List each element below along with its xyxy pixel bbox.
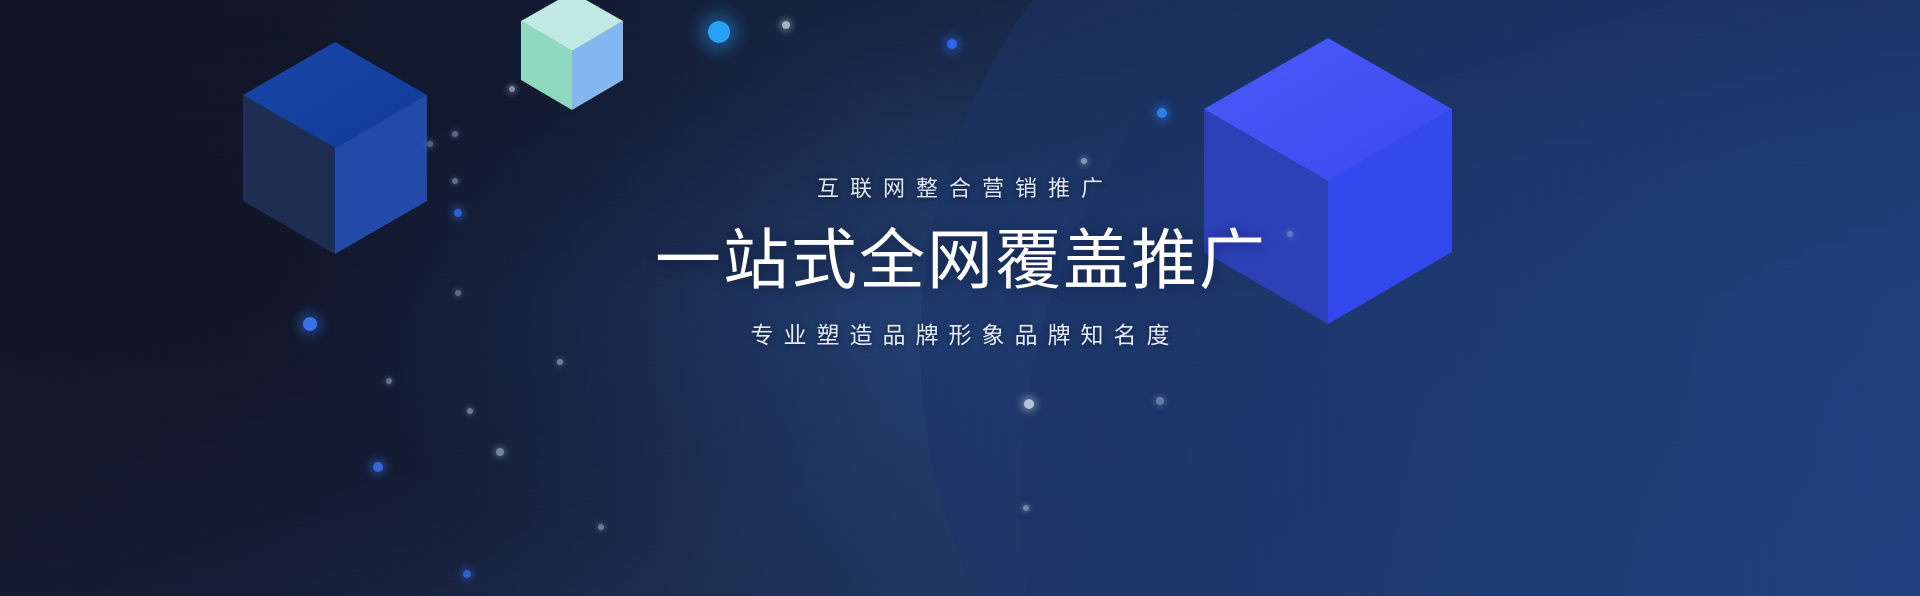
- particle-dot: [598, 524, 604, 530]
- particle-dot: [1024, 399, 1034, 409]
- particle-dot: [557, 359, 563, 365]
- hero-headline: 一站式全网覆盖推广: [0, 224, 1920, 298]
- hero-banner: 互联网整合营销推广 一站式全网覆盖推广 专业塑造品牌形象品牌知名度: [0, 0, 1920, 596]
- hero-eyebrow: 互联网整合营销推广: [0, 176, 1920, 202]
- particle-dot: [708, 21, 730, 43]
- particle-dot: [509, 86, 515, 92]
- particle-dot: [427, 141, 433, 147]
- particle-dot: [496, 448, 504, 456]
- particle-dot: [452, 131, 458, 137]
- particle-dot: [467, 408, 473, 414]
- particle-dot: [373, 462, 383, 472]
- particle-dot: [386, 378, 392, 384]
- particle-dot: [463, 570, 471, 578]
- hero-copy: 互联网整合营销推广 一站式全网覆盖推广 专业塑造品牌形象品牌知名度: [0, 176, 1920, 350]
- particle-dot: [1156, 397, 1164, 405]
- particle-dot: [1081, 158, 1087, 164]
- particle-dot: [947, 39, 957, 49]
- particle-dot: [1157, 108, 1167, 118]
- mint-cube: [521, 0, 623, 110]
- hero-subline: 专业塑造品牌形象品牌知名度: [0, 322, 1920, 350]
- particle-dot: [1023, 505, 1029, 511]
- particle-dot: [782, 21, 790, 29]
